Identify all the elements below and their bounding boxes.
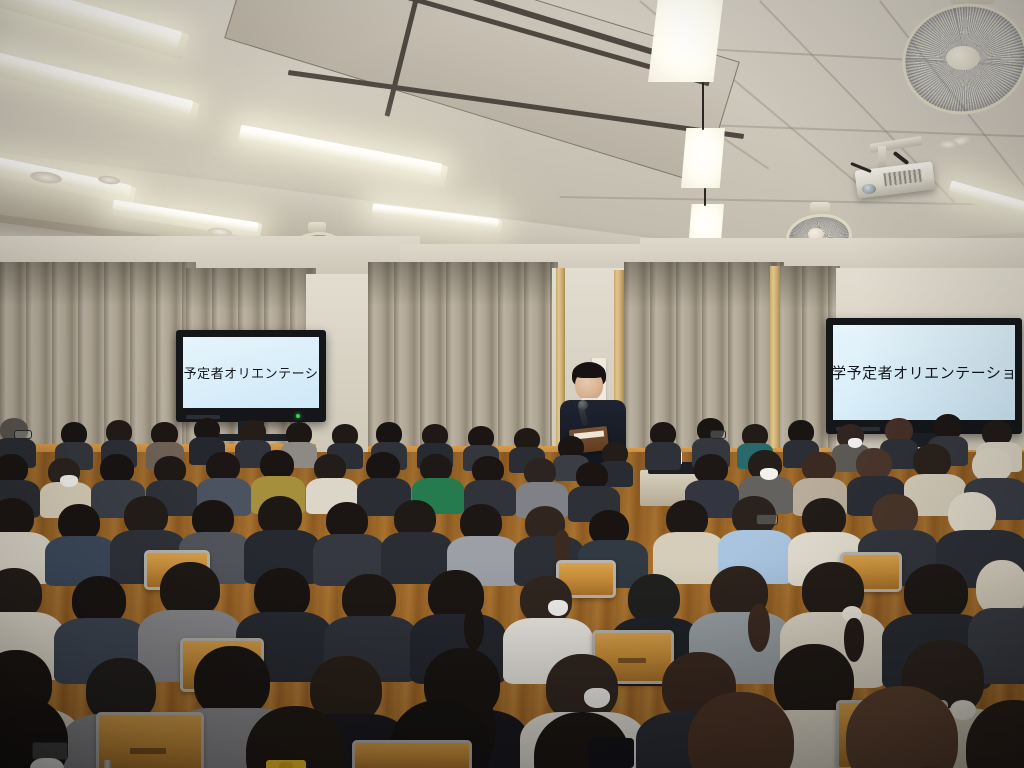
chair-back bbox=[96, 712, 204, 768]
face-mask bbox=[584, 688, 610, 708]
projector-lens bbox=[862, 184, 876, 194]
projector-cable bbox=[893, 151, 910, 165]
light-suspension-wire bbox=[702, 82, 704, 130]
photo-scene: 入学予定者オリエンテーション 入学予定者オリエンテーション bbox=[0, 0, 1024, 768]
light-suspension-wire bbox=[704, 188, 706, 206]
audience-member bbox=[388, 500, 448, 578]
chair-back bbox=[352, 740, 472, 768]
left-tv-screen: 入学予定者オリエンテーション bbox=[183, 337, 319, 408]
audience-member bbox=[726, 496, 788, 576]
fan-mount-bracket bbox=[308, 222, 326, 232]
head bbox=[628, 574, 680, 624]
audience-member bbox=[0, 498, 46, 576]
head bbox=[688, 692, 794, 768]
audience-member bbox=[252, 496, 314, 576]
projector-mount-arm bbox=[878, 146, 886, 168]
square-panel-light bbox=[648, 0, 724, 82]
ponytail bbox=[464, 606, 484, 650]
ponytail bbox=[554, 530, 570, 564]
face-mask bbox=[548, 600, 568, 616]
yellow-hair-bow-knot bbox=[280, 762, 292, 768]
head bbox=[246, 706, 344, 768]
audience-member bbox=[320, 502, 380, 580]
eyeglasses bbox=[756, 514, 778, 525]
audience-member bbox=[232, 706, 364, 768]
eyeglasses bbox=[14, 430, 32, 439]
head bbox=[966, 700, 1024, 768]
audience-member bbox=[0, 696, 90, 768]
face-mask bbox=[760, 468, 778, 480]
eyeglasses bbox=[710, 430, 726, 439]
torso bbox=[645, 442, 681, 470]
audience-member bbox=[52, 504, 112, 580]
head bbox=[846, 686, 958, 768]
audience-member bbox=[648, 422, 680, 466]
chair-leg bbox=[104, 760, 111, 768]
head bbox=[972, 448, 1012, 482]
audience-member bbox=[956, 700, 1024, 768]
audience-member bbox=[454, 504, 514, 580]
ceiling-fan bbox=[898, 0, 1024, 118]
audience-crowd bbox=[0, 400, 1024, 768]
right-slide-title: 入学予定者オリエンテーション bbox=[833, 362, 1015, 383]
fan-mount-bracket bbox=[810, 202, 830, 214]
smoke-detector bbox=[938, 140, 958, 149]
tote-bag bbox=[588, 738, 634, 768]
chair-label bbox=[130, 748, 166, 754]
head bbox=[913, 444, 951, 478]
left-slide-title: 入学予定者オリエンテーション bbox=[183, 363, 319, 382]
face-mask bbox=[30, 758, 64, 768]
face-mask bbox=[60, 475, 78, 487]
square-panel-light bbox=[681, 128, 725, 188]
audience-member bbox=[672, 692, 814, 768]
speaker-hair-fringe bbox=[573, 364, 605, 378]
ceiling-projector-assembly bbox=[848, 140, 958, 210]
fan-hub bbox=[946, 46, 980, 70]
face-mask bbox=[848, 438, 862, 448]
